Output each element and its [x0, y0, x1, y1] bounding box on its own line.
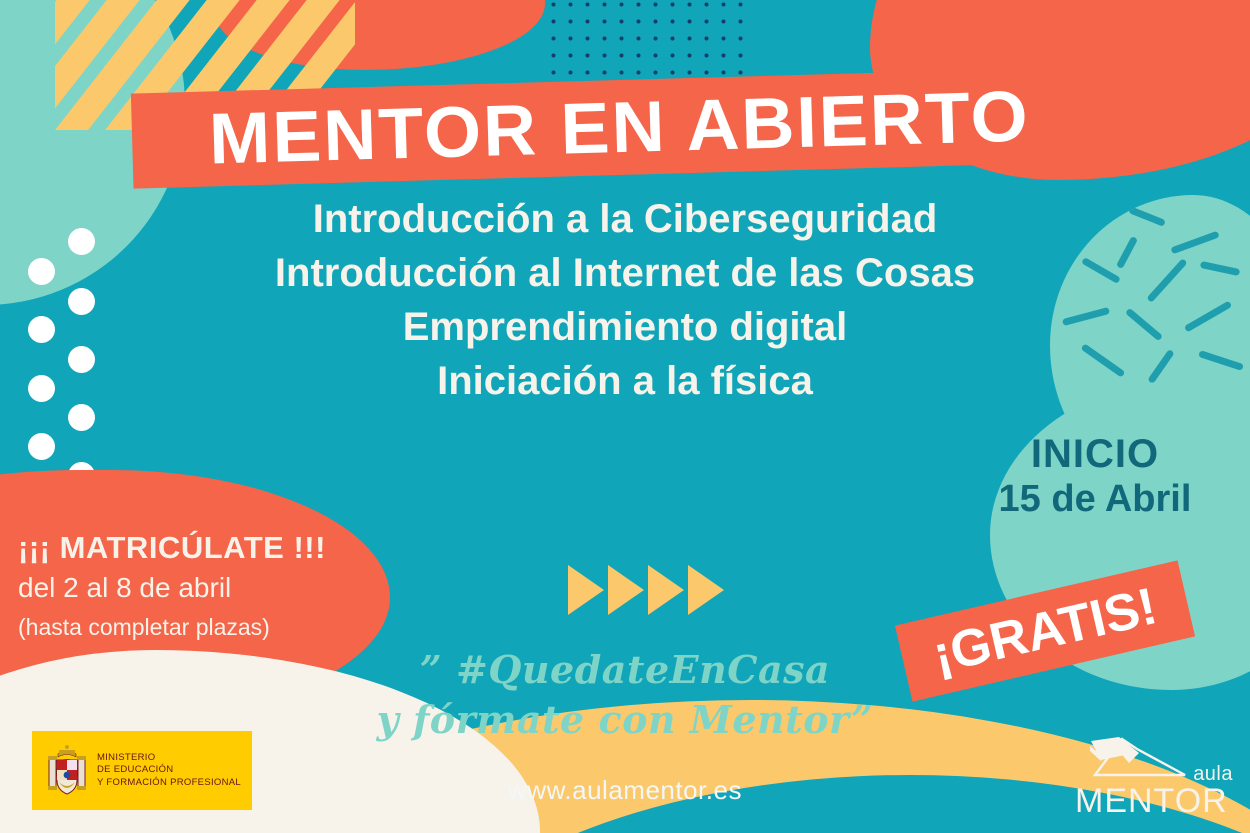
poster-canvas: MENTOR EN ABIERTO Introducción a la Cibe… [0, 0, 1250, 833]
start-date-block: INICIO 15 de Abril [970, 432, 1220, 522]
ministry-line-1: MINISTERIO [97, 752, 241, 765]
enrollment-block: ¡¡¡ MATRICÚLATE !!! del 2 al 8 de abril … [18, 528, 438, 646]
enrollment-headline: ¡¡¡ MATRICÚLATE !!! [18, 528, 438, 568]
arrow-right-icon [568, 565, 604, 615]
slogan-block: ” #QuedateEnCasa y fórmate con Mentor” [0, 645, 1250, 745]
orange-blob-top-center-decoration [215, 0, 545, 70]
spain-coat-of-arms-icon [46, 742, 88, 800]
course-item: Emprendimiento digital [0, 300, 1250, 354]
course-list: Introducción a la Ciberseguridad Introdu… [0, 192, 1250, 408]
course-item: Introducción a la Ciberseguridad [0, 192, 1250, 246]
arrow-right-icon-group [568, 565, 724, 615]
enrollment-note: (hasta completar plazas) [18, 608, 438, 646]
start-date: 15 de Abril [970, 476, 1220, 522]
ministry-line-3: Y FORMACIÓN PROFESIONAL [97, 777, 241, 790]
open-book-logo-icon [1089, 735, 1194, 783]
ministry-logo-text: MINISTERIO DE EDUCACIÓN Y FORMACIÓN PROF… [97, 752, 241, 790]
poster-title-banner: MENTOR EN ABIERTO [131, 66, 1108, 188]
arrow-right-icon [648, 565, 684, 615]
enrollment-dates: del 2 al 8 de abril [18, 568, 438, 608]
aula-mentor-logo-bottom: MENTOR [1075, 782, 1228, 821]
arrow-right-icon [688, 565, 724, 615]
arrow-right-icon [608, 565, 644, 615]
page-title: MENTOR EN ABIERTO [208, 75, 1031, 180]
ministry-logo: MINISTERIO DE EDUCACIÓN Y FORMACIÓN PROF… [32, 731, 252, 810]
navy-dot-grid-decoration [545, 0, 750, 84]
ministry-line-2: DE EDUCACIÓN [97, 764, 241, 777]
course-item: Introducción al Internet de las Cosas [0, 246, 1250, 300]
aula-mentor-logo: aula MENTOR [1075, 735, 1235, 817]
course-item: Iniciación a la física [0, 354, 1250, 408]
slogan-line-1: ” #QuedateEnCasa [0, 645, 1250, 695]
start-label: INICIO [970, 432, 1220, 476]
